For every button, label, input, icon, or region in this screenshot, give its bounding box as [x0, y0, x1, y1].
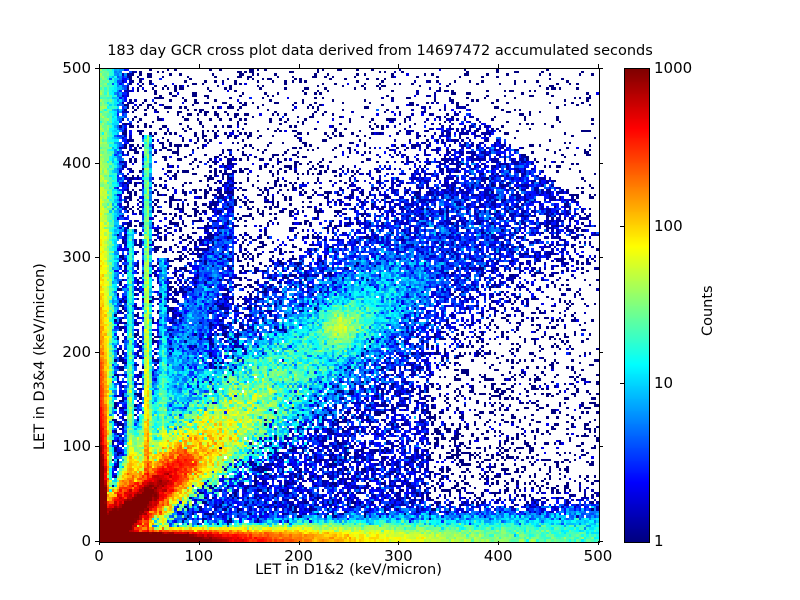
density-scatter-canvas: [100, 69, 599, 542]
colorbar-tick-label: 1000: [654, 59, 692, 77]
colorbar: [624, 68, 650, 543]
x-tick-mark-top: [299, 64, 300, 68]
y-tick-mark-right: [599, 541, 603, 542]
colorbar-tick-mark: [620, 226, 624, 227]
y-tick-mark-right: [599, 257, 603, 258]
y-tick-label: 0: [3, 532, 91, 550]
y-tick-mark: [95, 257, 99, 258]
y-tick-mark: [95, 352, 99, 353]
colorbar-tick-label: 1: [654, 532, 664, 550]
y-tick-mark-right: [599, 163, 603, 164]
y-tick-label: 500: [3, 59, 91, 77]
y-tick-mark: [95, 541, 99, 542]
x-tick-mark: [498, 541, 499, 545]
x-tick-mark-top: [99, 64, 100, 68]
x-tick-mark: [299, 541, 300, 545]
figure-canvas: 183 day GCR cross plot data derived from…: [0, 0, 800, 600]
y-axis-label: LET in D3&4 (keV/micron): [32, 263, 48, 450]
y-tick-mark-right: [599, 352, 603, 353]
x-tick-mark-top: [398, 64, 399, 68]
colorbar-gradient: [625, 69, 649, 542]
x-tick-mark: [99, 541, 100, 545]
plot-title-line1: 183 day GCR cross plot data derived from…: [0, 42, 760, 60]
y-tick-label: 400: [3, 154, 91, 172]
x-tick-mark-top: [498, 64, 499, 68]
y-tick-mark-right: [599, 446, 603, 447]
colorbar-label: Counts: [700, 285, 716, 336]
x-tick-mark: [199, 541, 200, 545]
colorbar-tick-label: 100: [654, 217, 683, 235]
x-tick-mark-top: [199, 64, 200, 68]
x-axis-label: LET in D1&2 (keV/micron): [99, 562, 598, 578]
colorbar-tick-label: 10: [654, 374, 673, 392]
x-tick-mark: [398, 541, 399, 545]
colorbar-tick-mark: [620, 383, 624, 384]
y-tick-mark: [95, 163, 99, 164]
y-tick-mark: [95, 68, 99, 69]
y-tick-mark-right: [599, 68, 603, 69]
y-tick-mark: [95, 446, 99, 447]
plot-axes: [99, 68, 600, 543]
